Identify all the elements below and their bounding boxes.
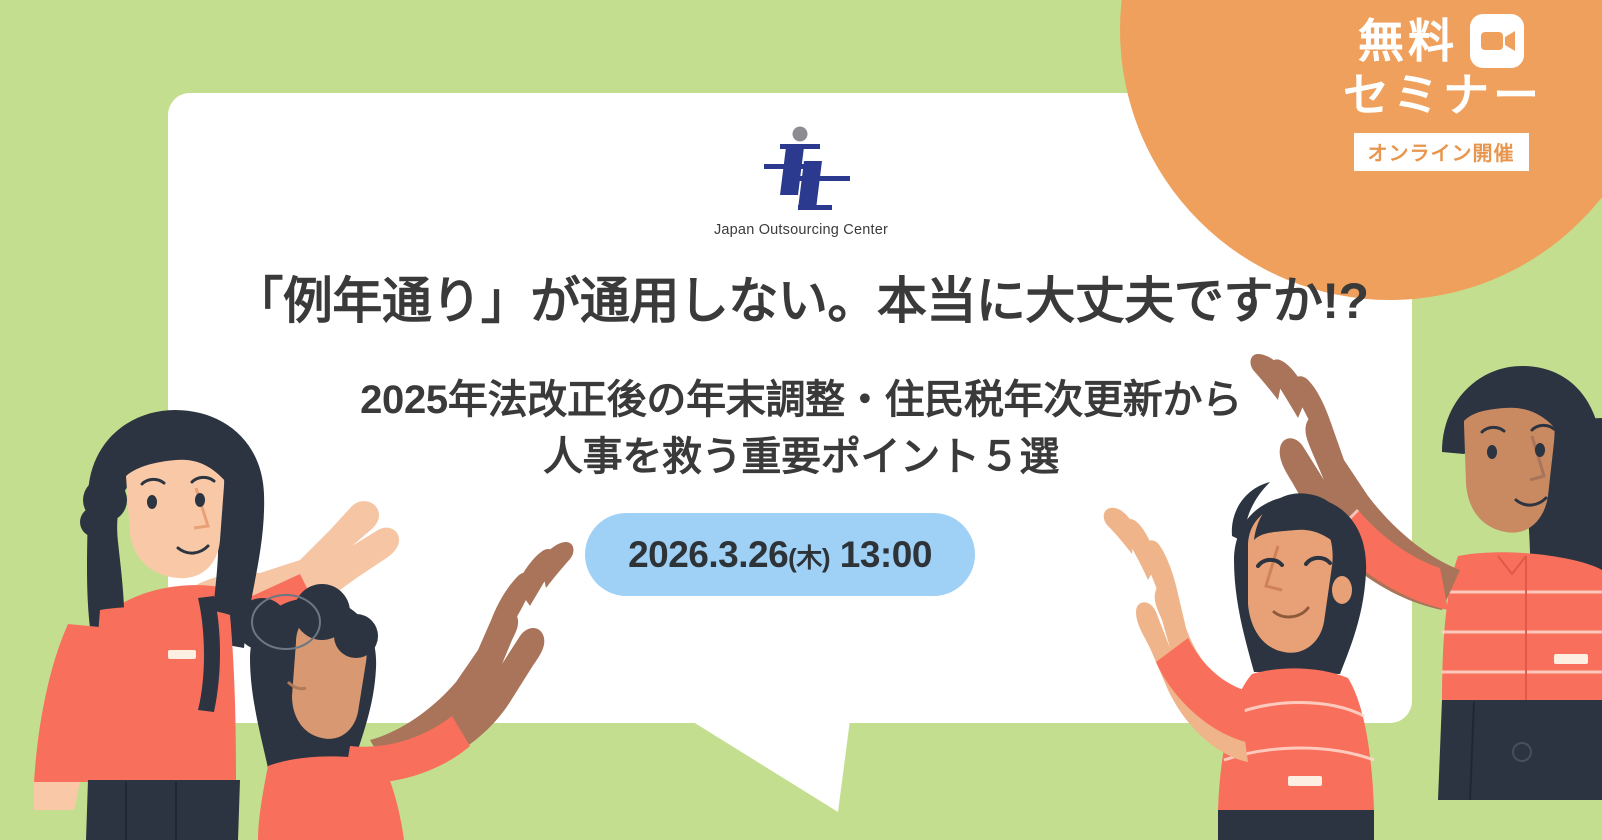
badge-row-free: 無料: [1358, 14, 1524, 68]
speech-bubble-tail: [690, 720, 850, 812]
date-badge: 2026.3.26(木) 13:00: [585, 513, 975, 596]
badge-free-label: 無料: [1358, 14, 1458, 68]
subtitle-line-1: 2025年法改正後の年末調整・住民税年次更新から: [0, 372, 1602, 429]
event-date: 2026.3.26: [628, 534, 788, 575]
seminar-banner: Japan Outsourcing Center 「例年通り」が通用しない。本当…: [0, 0, 1602, 840]
subtitle-line-2: 人事を救う重要ポイント５選: [0, 429, 1602, 486]
logo-text: Japan Outsourcing Center: [714, 222, 888, 238]
page-title: 「例年通り」が通用しない。本当に大丈夫ですか!?: [0, 272, 1602, 331]
video-camera-icon: [1470, 14, 1524, 68]
logo-block: Japan Outsourcing Center: [0, 125, 1602, 238]
event-datetime: 2026.3.26(木) 13:00: [628, 534, 932, 576]
japan-outsourcing-center-logo-icon: [742, 125, 860, 217]
event-time: 13:00: [840, 534, 932, 575]
page-subtitle: 2025年法改正後の年末調整・住民税年次更新から 人事を救う重要ポイント５選: [0, 372, 1602, 486]
event-day-of-week: (木): [788, 543, 830, 573]
badge-seminar-label: セミナー: [1339, 68, 1543, 122]
